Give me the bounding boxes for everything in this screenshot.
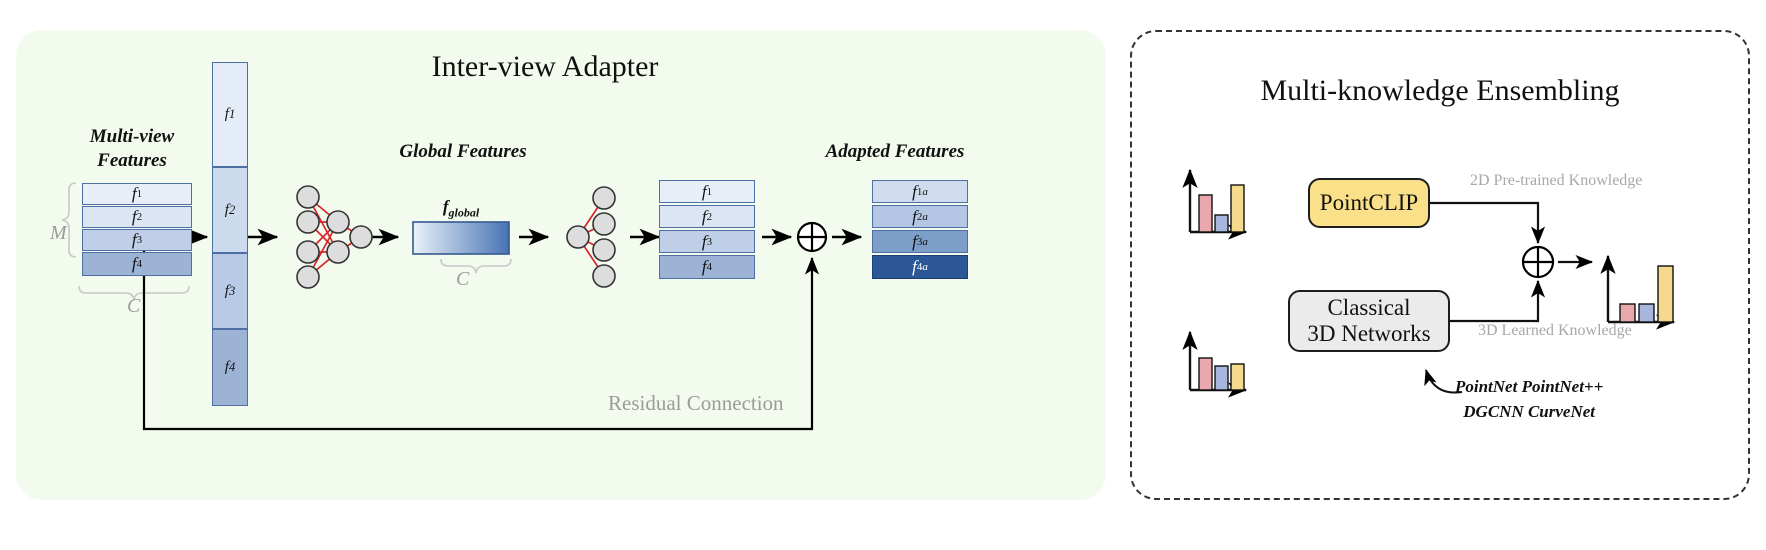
diagram-root: Inter-view Adapter Multi-view Features: [0, 0, 1766, 550]
link-classical-to-sum: [1450, 281, 1538, 321]
chart-pointclip-input: [1190, 170, 1246, 232]
sum-oplus-right: [1523, 247, 1553, 277]
link-pointclip-to-sum: [1430, 203, 1538, 243]
right-panel-graphics: [0, 0, 1766, 550]
chart-classical3d-input: [1190, 332, 1246, 390]
chart-ensembled-output: [1608, 256, 1674, 322]
arrow-netnames-to-classical: [1426, 370, 1462, 393]
